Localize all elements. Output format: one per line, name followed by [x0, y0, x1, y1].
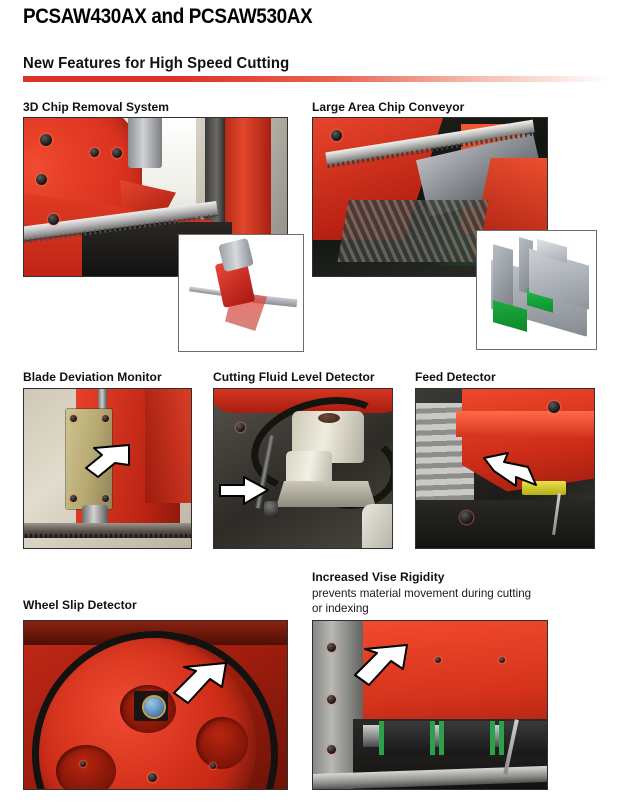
caption-feed-detector: Feed Detector: [415, 370, 496, 384]
photo-scene: [24, 621, 287, 789]
photo-scene: [214, 389, 392, 548]
caption-chip-removal: 3D Chip Removal System: [23, 100, 169, 114]
page-subtitle: New Features for High Speed Cutting: [23, 55, 289, 73]
accent-divider: [23, 76, 609, 82]
photo-blade-deviation: [23, 388, 192, 549]
caption-blade-deviation: Blade Deviation Monitor: [23, 370, 162, 384]
photo-wheel-slip: [23, 620, 288, 790]
inset-scene: [477, 231, 596, 349]
brochure-page: PCSAW430AX and PCSAW530AX New Features f…: [0, 0, 626, 806]
caption-chip-conveyor: Large Area Chip Conveyor: [312, 100, 464, 114]
photo-fluid-level: [213, 388, 393, 549]
page-title: PCSAW430AX and PCSAW530AX: [23, 5, 312, 29]
callout-arrow-fluid-level: [218, 475, 270, 507]
caption-wheel-slip: Wheel Slip Detector: [23, 598, 137, 612]
photo-vise-rigidity: [312, 620, 548, 790]
photo-feed-detector: [415, 388, 595, 549]
callout-arrow-wheel-slip: [166, 661, 228, 707]
callout-arrow-blade-deviation: [80, 441, 130, 483]
callout-arrow-feed-detector: [482, 451, 538, 489]
callout-arrow-vise-rigidity: [347, 643, 409, 689]
caption-fluid-level: Cutting Fluid Level Detector: [213, 370, 375, 384]
caption-vise-rigidity: Increased Vise Rigidity: [312, 570, 444, 584]
inset-chip-conveyor-cad: [476, 230, 597, 350]
description-vise-rigidity: prevents material movement during cuttin…: [312, 586, 592, 616]
inset-chip-removal-cad: [178, 234, 304, 352]
inset-scene: [179, 235, 303, 351]
